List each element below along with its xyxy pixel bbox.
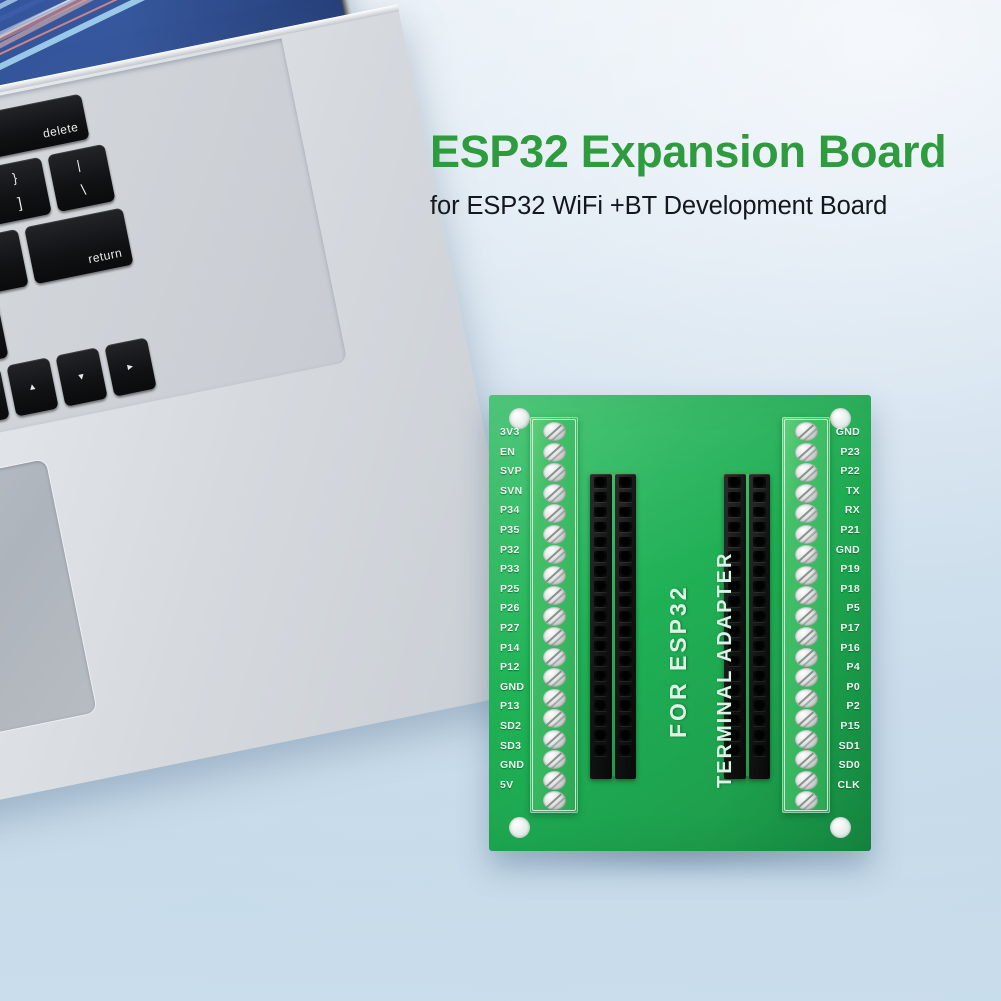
header-socket-1-2 [619,507,632,518]
key-arrow-left-glyph: ◄ [0,388,6,408]
header-socket-3-13 [753,671,766,682]
product-image-canvas: (9)0–-+=deleteIOP{[}]|\KL:;"'return<,>.?… [0,0,1001,1001]
terminal-screw-right-13 [795,689,818,708]
esp32-expansion-board: 3V3ENSVPSVNP34P35P32P33P25P26P27P14P12GN… [489,395,871,851]
product-title: ESP32 Expansion Board [430,128,975,176]
header-socket-1-4 [619,537,632,548]
pin-label-right-p2-14: P2 [842,697,865,717]
header-socket-3-16 [753,715,766,726]
key-return[interactable]: return [24,208,134,285]
female-header-left [590,474,636,776]
terminal-screw-right-14 [795,709,818,728]
header-socket-3-2 [753,507,766,518]
terminal-screw-left-5 [543,525,566,544]
terminal-screw-left-7 [543,566,566,585]
keyboard-row-3: KL:;"'return [0,208,134,337]
pin-label-right-sd0-17: SD0 [834,756,865,776]
terminal-screw-left-4 [543,504,566,523]
header-socket-3-1 [753,492,766,503]
product-subtitle: for ESP32 WiFi +BT Development Board [430,192,975,221]
pin-label-left-p13-14: P13 [495,697,525,717]
header-socket-0-4 [594,537,607,548]
laptop-photo: (9)0–-+=deleteIOP{[}]|\KL:;"'return<,>.?… [0,0,460,860]
terminal-screw-left-2 [543,463,566,482]
terminal-screw-left-16 [543,750,566,769]
pin-label-right-sd1-16: SD1 [834,737,865,757]
mounting-hole-bottom-right [830,817,851,838]
terminal-screw-right-12 [795,668,818,687]
key-backslash[interactable]: |\ [47,144,115,212]
pin-label-right-tx-3: TX [841,482,865,502]
pin-label-right-clk-18: CLK [833,776,865,796]
terminal-screw-right-10 [795,627,818,646]
header-column-left-outer [590,474,612,779]
pin-label-left-svp-2: SVP [495,462,527,482]
pin-label-left-p26-9: P26 [495,599,525,619]
header-socket-3-5 [753,551,766,562]
left-pin-label-column: 3V3ENSVPSVNP34P35P32P33P25P26P27P14P12GN… [495,423,529,795]
key-backslash-upper-glyph: | [49,153,108,177]
terminal-screw-right-17 [795,771,818,790]
header-socket-3-17 [753,730,766,741]
terminal-screw-left-15 [543,730,566,749]
header-socket-1-12 [619,656,632,667]
header-socket-3-15 [753,700,766,711]
terminal-screw-left-6 [543,545,566,564]
header-socket-0-15 [594,700,607,711]
key-arrow-up-glyph: ▲ [11,378,55,395]
pin-label-right-p0-13: P0 [842,678,865,698]
terminal-screw-right-6 [795,545,818,564]
pin-label-left-p34-4: P34 [495,501,525,521]
key-backslash-lower-glyph: \ [54,177,114,203]
header-socket-1-18 [619,745,632,756]
header-socket-0-6 [594,566,607,577]
header-socket-0-13 [594,671,607,682]
pin-label-right-p15-15: P15 [835,717,865,737]
header-socket-2-1 [728,492,741,503]
header-socket-1-16 [619,715,632,726]
header-socket-1-13 [619,671,632,682]
pin-label-left-en-1: EN [495,443,520,463]
key-return-label: return [87,247,123,266]
header-socket-2-0 [728,477,741,488]
header-socket-1-10 [619,626,632,637]
terminal-screw-right-16 [795,750,818,769]
header-socket-3-4 [753,537,766,548]
terminal-screw-left-9 [543,607,566,626]
key-quote-upper-glyph: " [0,238,22,262]
header-socket-0-9 [594,611,607,622]
mounting-hole-bottom-left [509,817,530,838]
header-socket-0-8 [594,596,607,607]
terminal-screw-left-0 [543,422,566,441]
header-socket-1-11 [619,641,632,652]
header-socket-1-5 [619,551,632,562]
terminal-screw-left-10 [543,627,566,646]
terminal-screw-left-11 [543,648,566,667]
header-socket-3-6 [753,566,766,577]
key-quote-lower-glyph: ' [0,262,27,288]
terminal-screw-right-18 [795,791,818,810]
pin-label-right-p17-10: P17 [835,619,865,639]
pin-label-right-p21-5: P21 [835,521,865,541]
key-arrow-right-glyph: ► [109,358,153,375]
header-socket-2-2 [728,507,741,518]
key-arrow-right[interactable]: ► [104,337,157,397]
pin-label-left-p12-12: P12 [495,658,525,678]
pin-label-right-p19-7: P19 [835,560,865,580]
terminal-screw-right-7 [795,566,818,585]
header-socket-0-18 [594,745,607,756]
key-bracket-right-upper-glyph: } [0,166,45,190]
screw-column-left [530,422,578,812]
header-socket-1-8 [619,596,632,607]
pin-label-right-p16-11: P16 [835,639,865,659]
terminal-screw-left-13 [543,689,566,708]
terminal-screw-right-1 [795,443,818,462]
terminal-screw-left-8 [543,586,566,605]
silkscreen-terminal-adapter: TERMINAL ADAPTER [714,552,737,788]
pin-label-left-p27-10: P27 [495,619,525,639]
terminal-screw-right-0 [795,422,818,441]
header-socket-0-11 [594,641,607,652]
header-column-right-outer [749,474,771,779]
header-socket-1-1 [619,492,632,503]
header-socket-3-11 [753,641,766,652]
header-gap-left [612,474,615,776]
header-socket-0-12 [594,656,607,667]
header-socket-0-10 [594,626,607,637]
pin-label-right-gnd-0: GND [831,423,865,443]
header-column-left-inner [615,474,637,779]
header-socket-0-0 [594,477,607,488]
screw-terminal-block-left [530,417,578,813]
pin-label-left-p25-8: P25 [495,580,525,600]
terminal-screw-right-15 [795,730,818,749]
pin-label-left-gnd-13: GND [495,678,529,698]
header-socket-3-7 [753,581,766,592]
pin-label-left-p33-7: P33 [495,560,525,580]
terminal-screw-right-3 [795,484,818,503]
header-socket-1-6 [619,566,632,577]
header-socket-1-14 [619,685,632,696]
header-socket-0-16 [594,715,607,726]
key-delete-label: delete [42,121,79,140]
key-bracket-right-lower-glyph: ] [0,190,50,216]
terminal-screw-right-5 [795,525,818,544]
pin-label-right-gnd-6: GND [831,541,865,561]
header-socket-1-9 [619,611,632,622]
silkscreen-for-esp32: FOR ESP32 [665,584,692,738]
terminal-screw-left-12 [543,668,566,687]
terminal-screw-left-18 [543,791,566,810]
pin-label-left-svn-3: SVN [495,482,528,502]
key-quote[interactable]: "' [0,229,29,297]
terminal-screw-left-3 [543,484,566,503]
pin-label-right-p4-12: P4 [842,658,865,678]
pin-label-left-p14-11: P14 [495,639,525,659]
header-socket-3-18 [753,745,766,756]
pin-label-left-sd3-16: SD3 [495,737,526,757]
header-socket-2-3 [728,522,741,533]
header-socket-0-2 [594,507,607,518]
right-pin-label-column: GNDP23P22TXRXP21GNDP19P18P5P17P16P4P0P2P… [831,423,865,795]
header-socket-1-3 [619,522,632,533]
key-arrow-down-glyph: ▼ [60,368,104,385]
header-socket-0-7 [594,581,607,592]
header-socket-1-17 [619,730,632,741]
key-arrow-up[interactable]: ▲ [6,357,59,417]
screw-terminal-block-right [782,417,830,813]
headline-block: ESP32 Expansion Board for ESP32 WiFi +BT… [430,128,975,221]
header-socket-3-0 [753,477,766,488]
terminal-screw-right-8 [795,586,818,605]
header-socket-3-12 [753,656,766,667]
header-socket-0-1 [594,492,607,503]
key-bracket-right[interactable]: }] [0,157,52,225]
pin-label-right-p5-9: P5 [842,599,865,619]
pin-label-right-p23-1: P23 [835,443,865,463]
pin-label-left-gnd-17: GND [495,756,529,776]
pin-label-left-p35-5: P35 [495,521,525,541]
key-shift-right[interactable]: shift [0,300,9,368]
pin-label-right-p22-2: P22 [835,462,865,482]
pin-label-left-5v-18: 5V [495,776,518,796]
header-socket-0-14 [594,685,607,696]
pin-label-right-rx-4: RX [840,501,865,521]
header-socket-0-17 [594,730,607,741]
header-socket-3-10 [753,626,766,637]
key-arrow-down[interactable]: ▼ [55,347,108,407]
header-socket-0-5 [594,551,607,562]
terminal-screw-left-14 [543,709,566,728]
header-socket-1-0 [619,477,632,488]
header-socket-1-15 [619,700,632,711]
terminal-screw-left-1 [543,443,566,462]
terminal-screw-left-17 [543,771,566,790]
pin-label-right-p18-8: P18 [835,580,865,600]
header-gap-right [746,474,749,776]
header-socket-3-3 [753,522,766,533]
header-socket-1-7 [619,581,632,592]
header-socket-3-9 [753,611,766,622]
pin-label-left-sd2-15: SD2 [495,717,526,737]
header-socket-0-3 [594,522,607,533]
terminal-screw-right-11 [795,648,818,667]
terminal-screw-right-2 [795,463,818,482]
pin-label-left-p32-6: P32 [495,541,525,561]
terminal-screw-right-9 [795,607,818,626]
header-socket-3-14 [753,685,766,696]
terminal-screw-right-4 [795,504,818,523]
screw-column-right [782,422,830,812]
header-socket-2-4 [728,537,741,548]
header-socket-3-8 [753,596,766,607]
pin-label-left-3v3-0: 3V3 [495,423,525,443]
